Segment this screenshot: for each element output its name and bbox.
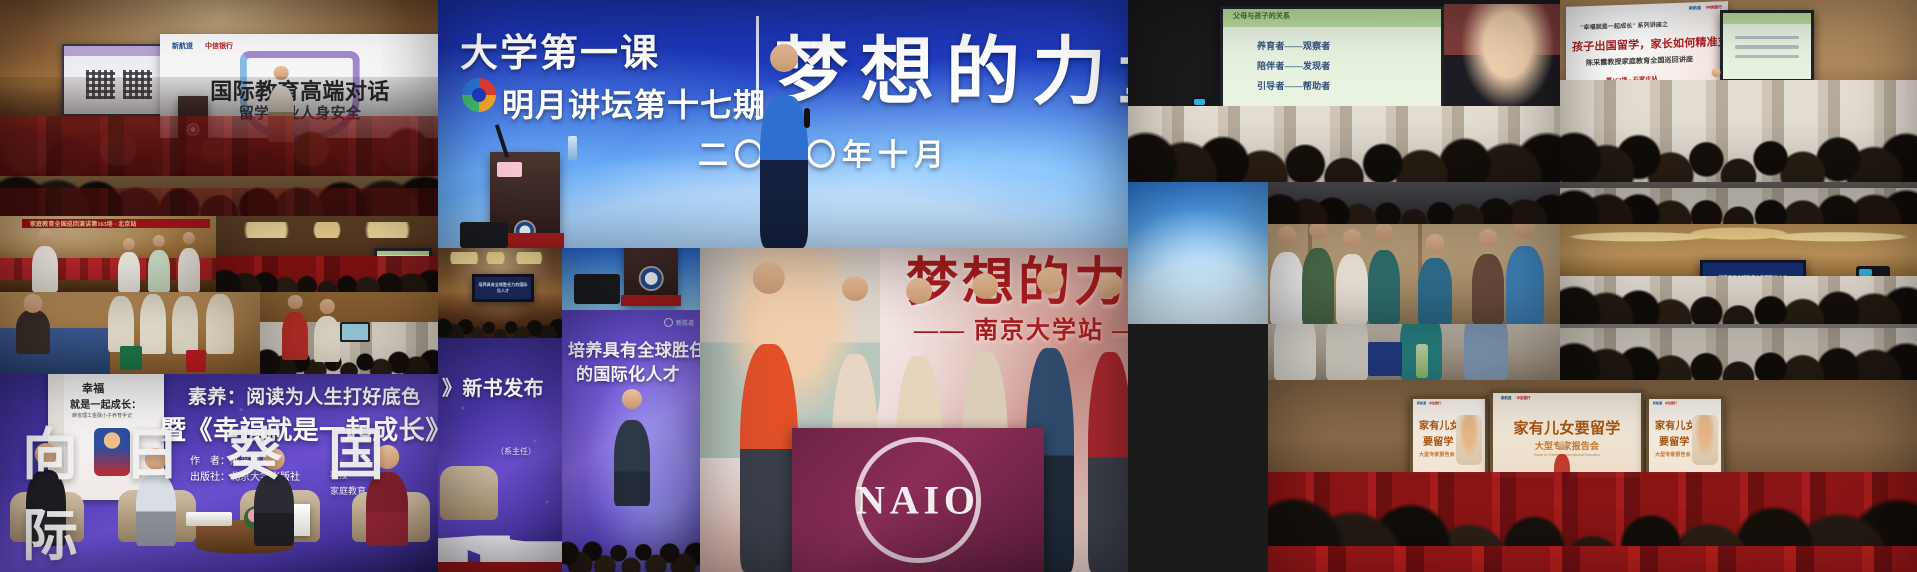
panel-left-seated-audience bbox=[260, 292, 438, 374]
panel-center-hero-stage: 大学第一课 明月讲坛第十七期 梦想的力量 二〇二〇年十月 bbox=[438, 0, 1128, 248]
panel-top-left-forum: 新航道 中信银行 国际教育高端对话 留学就业人身安全 bbox=[0, 0, 438, 176]
panel-right-white-chairs-audience bbox=[1560, 324, 1917, 380]
panel-center-podium-closeup bbox=[562, 248, 700, 310]
panel-bottom-right-expert-talk: 新航道 中信银行 家有儿女 要留学 大型专家报告会 新航道 中信银行 家有儿女要… bbox=[1268, 380, 1917, 572]
panel-center-naio-flag-group: 梦想的力量 —— 南京大学站 —— NAIO bbox=[700, 248, 1128, 572]
panel-right-audience-desks bbox=[1268, 182, 1560, 224]
panel-right-consultation-group bbox=[1268, 224, 1560, 324]
photo-collage: 新航道 中信银行 国际教育高端对话 留学就业人身安全 家庭教育全国巡回演讲第16… bbox=[0, 0, 1917, 572]
panel-right-grand-ballroom: 培养具有全球胜任力的国际化人才 bbox=[1560, 224, 1917, 324]
panel-center-hall-overview: 培养具有全球胜任力的国际化人才 bbox=[438, 248, 562, 338]
panel-left-registration: 家庭教育全国巡回演讲第163场 · 北京站 bbox=[0, 216, 216, 292]
panel-top-right-lecture-hall: 父母与孩子的关系 养育者——观察者 陪伴者——发现者 引导者——帮助者 bbox=[1128, 0, 1560, 182]
panel-left-signing-desk bbox=[0, 292, 260, 374]
panel-bottom-left-book-launch: 幸福 就是一起成长： 麻省理工金融小子养育手记 素养：阅读为人生打好底色 暨《幸… bbox=[0, 374, 438, 572]
panel-left-audience-strip bbox=[0, 176, 438, 216]
panel-right-handout-closeup bbox=[1268, 324, 1560, 380]
panel-center-hero-overflow bbox=[1128, 182, 1268, 324]
panel-center-purple-newbook: 》新书发布 （系主任） bbox=[438, 338, 562, 572]
panel-top-right-seminar-hall: 新航道 中信银行 "幸福就是一起成长" 系列讲座之 孩子出国留学，家长如何精准支… bbox=[1560, 0, 1917, 182]
panel-left-hall-wide bbox=[216, 216, 438, 292]
panel-center-global-talent-lecture: 培养具有全球胜任力 的国际化人才 新航道 bbox=[562, 310, 700, 572]
panel-right-queue-audience bbox=[1560, 182, 1917, 224]
